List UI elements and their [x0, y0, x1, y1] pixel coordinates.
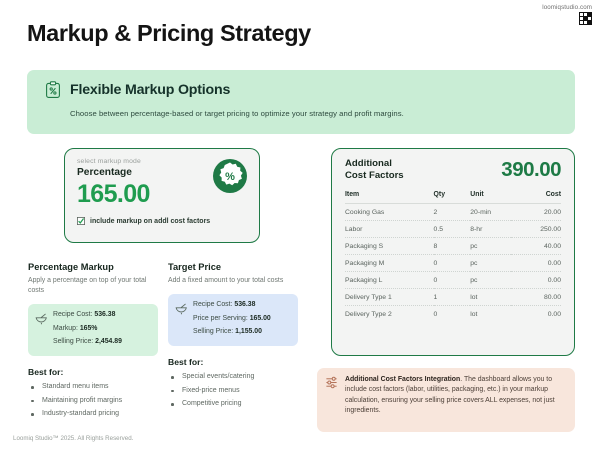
acf-title-line1: Additional: [345, 158, 392, 169]
summary-line-label: Recipe Cost:: [193, 301, 234, 308]
col-header-cost: Cost: [511, 191, 561, 204]
cell-qty: 1: [434, 289, 471, 306]
summary-line: Recipe Cost: 536.38: [53, 311, 150, 318]
mortar-pestle-icon: [35, 313, 48, 325]
target-price-lines: Recipe Cost: 536.38Price per Serving: 16…: [193, 301, 290, 335]
cell-cost: 0.00: [511, 272, 561, 289]
sliders-icon: [325, 376, 338, 389]
acf-title: Additional Cost Factors: [345, 158, 404, 181]
summary-line-value: 165.00: [250, 315, 271, 322]
flexible-markup-banner: Flexible Markup Options Choose between p…: [27, 70, 575, 134]
cell-unit: lot: [470, 289, 511, 306]
summary-line-value: 536.38: [234, 301, 255, 308]
note-bold-lead: Additional Cost Factors Integration: [345, 376, 460, 383]
summary-line: Price per Serving: 165.00: [193, 315, 290, 322]
percentage-markup-heading: Percentage Markup: [28, 262, 158, 272]
summary-line: Selling Price: 1,155.00: [193, 328, 290, 335]
summary-line-label: Selling Price:: [193, 328, 235, 335]
page-title: Markup & Pricing Strategy: [27, 20, 311, 47]
cost-factors-table: Item Qty Unit Cost Cooking Gas220-min20.…: [345, 191, 561, 322]
cell-unit: pc: [470, 272, 511, 289]
banner-title: Flexible Markup Options: [70, 82, 230, 98]
cell-cost: 250.00: [511, 221, 561, 238]
cell-item: Packaging M: [345, 255, 434, 272]
cell-cost: 80.00: [511, 289, 561, 306]
banner-subtitle: Choose between percentage-based or targe…: [70, 109, 557, 118]
clipboard-percent-icon: [45, 81, 61, 99]
table-row: Packaging L0pc0.00: [345, 272, 561, 289]
acf-title-line2: Cost Factors: [345, 170, 404, 181]
cell-item: Delivery Type 2: [345, 306, 434, 323]
cell-unit: lot: [470, 306, 511, 323]
percentage-best-for-heading: Best for:: [28, 367, 158, 377]
summary-line: Selling Price: 2,454.89: [53, 338, 150, 345]
summary-line-value: 2,454.89: [95, 338, 122, 345]
summary-line-value: 165%: [80, 325, 98, 332]
cell-cost: 0.00: [511, 306, 561, 323]
summary-line-label: Markup:: [53, 325, 80, 332]
cell-qty: 0.5: [434, 221, 471, 238]
target-price-heading: Target Price: [168, 262, 298, 272]
summary-line-label: Selling Price:: [53, 338, 95, 345]
list-item: Industry-standard pricing: [28, 410, 158, 417]
list-item: Maintaining profit margins: [28, 397, 158, 404]
footer-copyright: Loomiq Studio™ 2025. All Rights Reserved…: [13, 435, 133, 442]
table-row: Delivery Type 20lot0.00: [345, 306, 561, 323]
table-row: Delivery Type 11lot80.00: [345, 289, 561, 306]
col-header-unit: Unit: [470, 191, 511, 204]
checkbox-checked-icon[interactable]: [77, 217, 85, 225]
target-price-description: Add a fixed amount to your total costs: [168, 276, 298, 286]
table-row: Packaging S8pc40.00: [345, 238, 561, 255]
summary-line: Markup: 165%: [53, 325, 150, 332]
slide-canvas: loomiqstudio.com Markup & Pricing Strate…: [0, 0, 600, 450]
cell-cost: 40.00: [511, 238, 561, 255]
markup-mode-card[interactable]: select markup mode Percentage 165.00 inc…: [64, 148, 260, 243]
cell-unit: pc: [470, 238, 511, 255]
target-price-summary: Recipe Cost: 536.38Price per Serving: 16…: [168, 294, 298, 346]
cell-item: Labor: [345, 221, 434, 238]
cell-item: Delivery Type 1: [345, 289, 434, 306]
cell-cost: 20.00: [511, 204, 561, 221]
table-row: Labor0.58-hr250.00: [345, 221, 561, 238]
percentage-markup-summary: Recipe Cost: 536.38Markup: 165%Selling P…: [28, 304, 158, 356]
cell-qty: 2: [434, 204, 471, 221]
target-best-for-list: Special events/cateringFixed-price menus…: [168, 373, 298, 407]
percent-seal-icon: %: [209, 155, 251, 197]
grid-logo-icon: [579, 12, 592, 25]
additional-cost-factors-card: Additional Cost Factors 390.00 Item Qty …: [331, 148, 575, 356]
col-header-item: Item: [345, 191, 434, 204]
cell-qty: 0: [434, 272, 471, 289]
brand-block: loomiqstudio.com: [542, 4, 592, 25]
note-text: Additional Cost Factors Integration. The…: [345, 375, 566, 425]
summary-line-label: Recipe Cost:: [53, 311, 94, 318]
list-item: Competitive pricing: [168, 400, 298, 407]
table-header-row: Item Qty Unit Cost: [345, 191, 561, 204]
cell-unit: pc: [470, 255, 511, 272]
mortar-pestle-icon: [175, 303, 188, 315]
table-row: Packaging M0pc0.00: [345, 255, 561, 272]
acf-header: Additional Cost Factors 390.00: [345, 158, 561, 181]
table-row: Cooking Gas220-min20.00: [345, 204, 561, 221]
cell-unit: 8-hr: [470, 221, 511, 238]
brand-site: loomiqstudio.com: [542, 4, 592, 11]
cell-item: Packaging S: [345, 238, 434, 255]
cell-cost: 0.00: [511, 255, 561, 272]
percentage-markup-lines: Recipe Cost: 536.38Markup: 165%Selling P…: [53, 311, 150, 345]
list-item: Fixed-price menus: [168, 387, 298, 394]
summary-line-value: 1,155.00: [235, 328, 262, 335]
svg-text:%: %: [225, 171, 235, 183]
banner-header: Flexible Markup Options: [45, 81, 557, 99]
cell-qty: 0: [434, 255, 471, 272]
target-price-column: Target Price Add a fixed amount to your …: [168, 262, 298, 414]
cell-unit: 20-min: [470, 204, 511, 221]
cell-qty: 0: [434, 306, 471, 323]
summary-line-value: 536.38: [94, 311, 115, 318]
col-header-qty: Qty: [434, 191, 471, 204]
summary-line: Recipe Cost: 536.38: [193, 301, 290, 308]
include-markup-checkbox-row[interactable]: include markup on addl cost factors: [77, 217, 247, 225]
percentage-best-for-list: Standard menu itemsMaintaining profit ma…: [28, 383, 158, 417]
cell-qty: 8: [434, 238, 471, 255]
percentage-markup-description: Apply a percentage on top of your total …: [28, 276, 158, 296]
acf-total-value: 390.00: [501, 160, 561, 181]
summary-line-label: Price per Serving:: [193, 315, 250, 322]
cell-item: Cooking Gas: [345, 204, 434, 221]
target-best-for-heading: Best for:: [168, 357, 298, 367]
include-markup-checkbox-label: include markup on addl cost factors: [90, 218, 210, 225]
cell-item: Packaging L: [345, 272, 434, 289]
list-item: Standard menu items: [28, 383, 158, 390]
percentage-markup-column: Percentage Markup Apply a percentage on …: [28, 262, 158, 424]
cost-factors-integration-note: Additional Cost Factors Integration. The…: [317, 368, 575, 432]
list-item: Special events/catering: [168, 373, 298, 380]
